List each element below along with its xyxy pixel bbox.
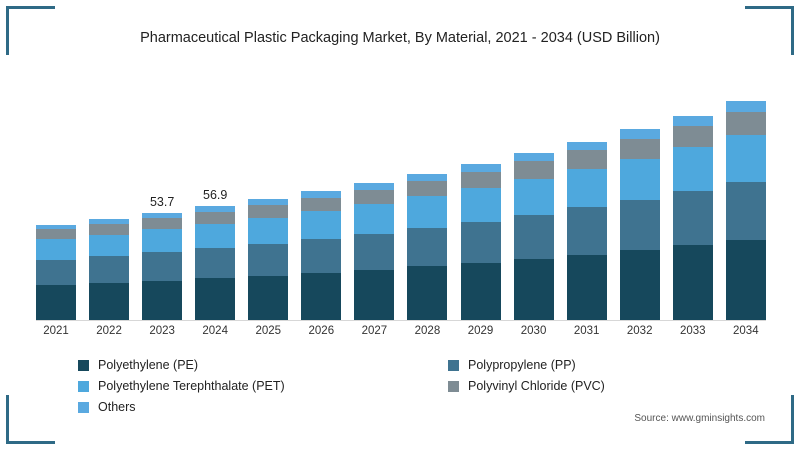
x-tick-label: 2032 bbox=[620, 325, 660, 337]
bar-segment bbox=[514, 215, 554, 259]
bar-segment bbox=[36, 260, 76, 285]
bar-segment bbox=[567, 207, 607, 254]
bar-segment bbox=[89, 256, 129, 283]
x-tick-label: 2030 bbox=[514, 325, 554, 337]
bar-segment bbox=[514, 153, 554, 161]
x-tick-label: 2022 bbox=[89, 325, 129, 337]
legend-row-2: Polyethylene Terephthalate (PET) Polyvin… bbox=[78, 379, 718, 393]
bar-segment bbox=[461, 222, 501, 263]
bar-segment bbox=[620, 250, 660, 320]
bar-segment bbox=[407, 228, 447, 267]
bar-segment bbox=[514, 259, 554, 320]
bar-segment bbox=[195, 248, 235, 278]
legend-label: Polypropylene (PP) bbox=[468, 358, 576, 372]
bar-segment bbox=[620, 139, 660, 159]
bar-column bbox=[567, 70, 607, 320]
bar-segment bbox=[248, 276, 288, 320]
bar-segment bbox=[36, 285, 76, 320]
bar-segment bbox=[620, 129, 660, 138]
legend-row-3: Others bbox=[78, 400, 718, 414]
bar-segment bbox=[726, 101, 766, 112]
bar-segment bbox=[36, 229, 76, 239]
bar-segment bbox=[620, 159, 660, 200]
legend-label: Polyvinyl Chloride (PVC) bbox=[468, 379, 605, 393]
bar-segment bbox=[461, 188, 501, 221]
bar-segment bbox=[461, 164, 501, 172]
x-tick-label: 2025 bbox=[248, 325, 288, 337]
bar-segment bbox=[567, 142, 607, 151]
corner-frame-bottom-left bbox=[6, 395, 55, 444]
bar-segment bbox=[567, 150, 607, 169]
bar-data-label: 56.9 bbox=[203, 188, 227, 202]
bar-segment bbox=[673, 116, 713, 126]
bar-segment bbox=[195, 224, 235, 248]
bar-segment bbox=[142, 218, 182, 229]
legend-item-others: Others bbox=[78, 400, 448, 414]
bar-segment bbox=[407, 196, 447, 227]
bar-column bbox=[620, 70, 660, 320]
bar-column bbox=[407, 70, 447, 320]
legend-swatch-icon bbox=[78, 381, 89, 392]
bar-segment bbox=[301, 198, 341, 212]
bar-segment bbox=[726, 182, 766, 240]
bar-column: 56.9 bbox=[195, 70, 235, 320]
bar-segment bbox=[567, 255, 607, 320]
bar-segment bbox=[248, 244, 288, 276]
bar-column bbox=[36, 70, 76, 320]
legend-swatch-icon bbox=[448, 381, 459, 392]
bar-group: 53.756.9 bbox=[36, 70, 766, 320]
bar-segment bbox=[726, 135, 766, 182]
bar-column bbox=[354, 70, 394, 320]
bar-segment bbox=[354, 183, 394, 190]
legend-row-1: Polyethylene (PE) Polypropylene (PP) bbox=[78, 358, 718, 372]
bar-segment bbox=[514, 161, 554, 179]
bar-column bbox=[248, 70, 288, 320]
bar-segment bbox=[354, 190, 394, 204]
bar-column: 53.7 bbox=[142, 70, 182, 320]
plot-area: 53.756.9 bbox=[36, 70, 766, 320]
bar-segment bbox=[673, 191, 713, 245]
bar-segment bbox=[89, 283, 129, 320]
legend-swatch-icon bbox=[78, 402, 89, 413]
bar-segment bbox=[354, 270, 394, 320]
x-tick-label: 2023 bbox=[142, 325, 182, 337]
bar-segment bbox=[726, 112, 766, 135]
chart-legend: Polyethylene (PE) Polypropylene (PP) Pol… bbox=[78, 358, 718, 421]
bar-column bbox=[301, 70, 341, 320]
bar-segment bbox=[567, 169, 607, 207]
bar-segment bbox=[142, 229, 182, 252]
bar-segment bbox=[301, 239, 341, 273]
bar-segment bbox=[673, 126, 713, 147]
bar-segment bbox=[407, 174, 447, 181]
bar-segment bbox=[726, 240, 766, 320]
bar-segment bbox=[407, 266, 447, 320]
bar-segment bbox=[89, 235, 129, 257]
bar-segment bbox=[248, 205, 288, 218]
legend-swatch-icon bbox=[78, 360, 89, 371]
bar-segment bbox=[248, 218, 288, 244]
x-tick-label: 2021 bbox=[36, 325, 76, 337]
bar-segment bbox=[301, 211, 341, 239]
x-tick-label: 2033 bbox=[673, 325, 713, 337]
legend-label: Polyethylene Terephthalate (PET) bbox=[98, 379, 285, 393]
bar-column bbox=[514, 70, 554, 320]
bar-segment bbox=[354, 204, 394, 233]
source-caption: Source: www.gminsights.com bbox=[634, 413, 765, 424]
legend-item-polypropylene-pp: Polypropylene (PP) bbox=[448, 358, 718, 372]
bar-segment bbox=[461, 172, 501, 188]
bar-segment bbox=[36, 239, 76, 259]
bar-segment bbox=[142, 252, 182, 280]
legend-item-polyethylene-pe: Polyethylene (PE) bbox=[78, 358, 448, 372]
bar-segment bbox=[673, 245, 713, 320]
legend-item-polyvinyl-chloride-pvc: Polyvinyl Chloride (PVC) bbox=[448, 379, 718, 393]
chart-page: Pharmaceutical Plastic Packaging Market,… bbox=[0, 0, 800, 450]
bar-segment bbox=[89, 224, 129, 235]
bar-segment bbox=[354, 234, 394, 270]
bar-column bbox=[726, 70, 766, 320]
bar-segment bbox=[301, 273, 341, 320]
chart-title: Pharmaceutical Plastic Packaging Market,… bbox=[0, 30, 800, 46]
bar-segment bbox=[407, 181, 447, 196]
legend-label: Others bbox=[98, 400, 136, 414]
legend-label: Polyethylene (PE) bbox=[98, 358, 198, 372]
x-tick-label: 2027 bbox=[354, 325, 394, 337]
bar-segment bbox=[673, 147, 713, 191]
bar-segment bbox=[195, 278, 235, 320]
x-tick-label: 2029 bbox=[461, 325, 501, 337]
legend-item-polyethylene-terephthalate-pet: Polyethylene Terephthalate (PET) bbox=[78, 379, 448, 393]
bar-segment bbox=[620, 200, 660, 250]
bar-segment bbox=[142, 281, 182, 320]
bar-segment bbox=[461, 263, 501, 320]
x-axis-line bbox=[36, 320, 766, 321]
legend-swatch-icon bbox=[448, 360, 459, 371]
bar-segment bbox=[514, 179, 554, 215]
x-tick-label: 2028 bbox=[407, 325, 447, 337]
bar-data-label: 53.7 bbox=[150, 195, 174, 209]
x-tick-label: 2031 bbox=[567, 325, 607, 337]
bar-column bbox=[673, 70, 713, 320]
bar-column bbox=[461, 70, 501, 320]
bar-column bbox=[89, 70, 129, 320]
x-tick-label: 2026 bbox=[301, 325, 341, 337]
x-tick-label: 2034 bbox=[726, 325, 766, 337]
x-tick-label: 2024 bbox=[195, 325, 235, 337]
x-axis-labels: 2021202220232024202520262027202820292030… bbox=[36, 325, 766, 337]
bar-segment bbox=[195, 212, 235, 224]
